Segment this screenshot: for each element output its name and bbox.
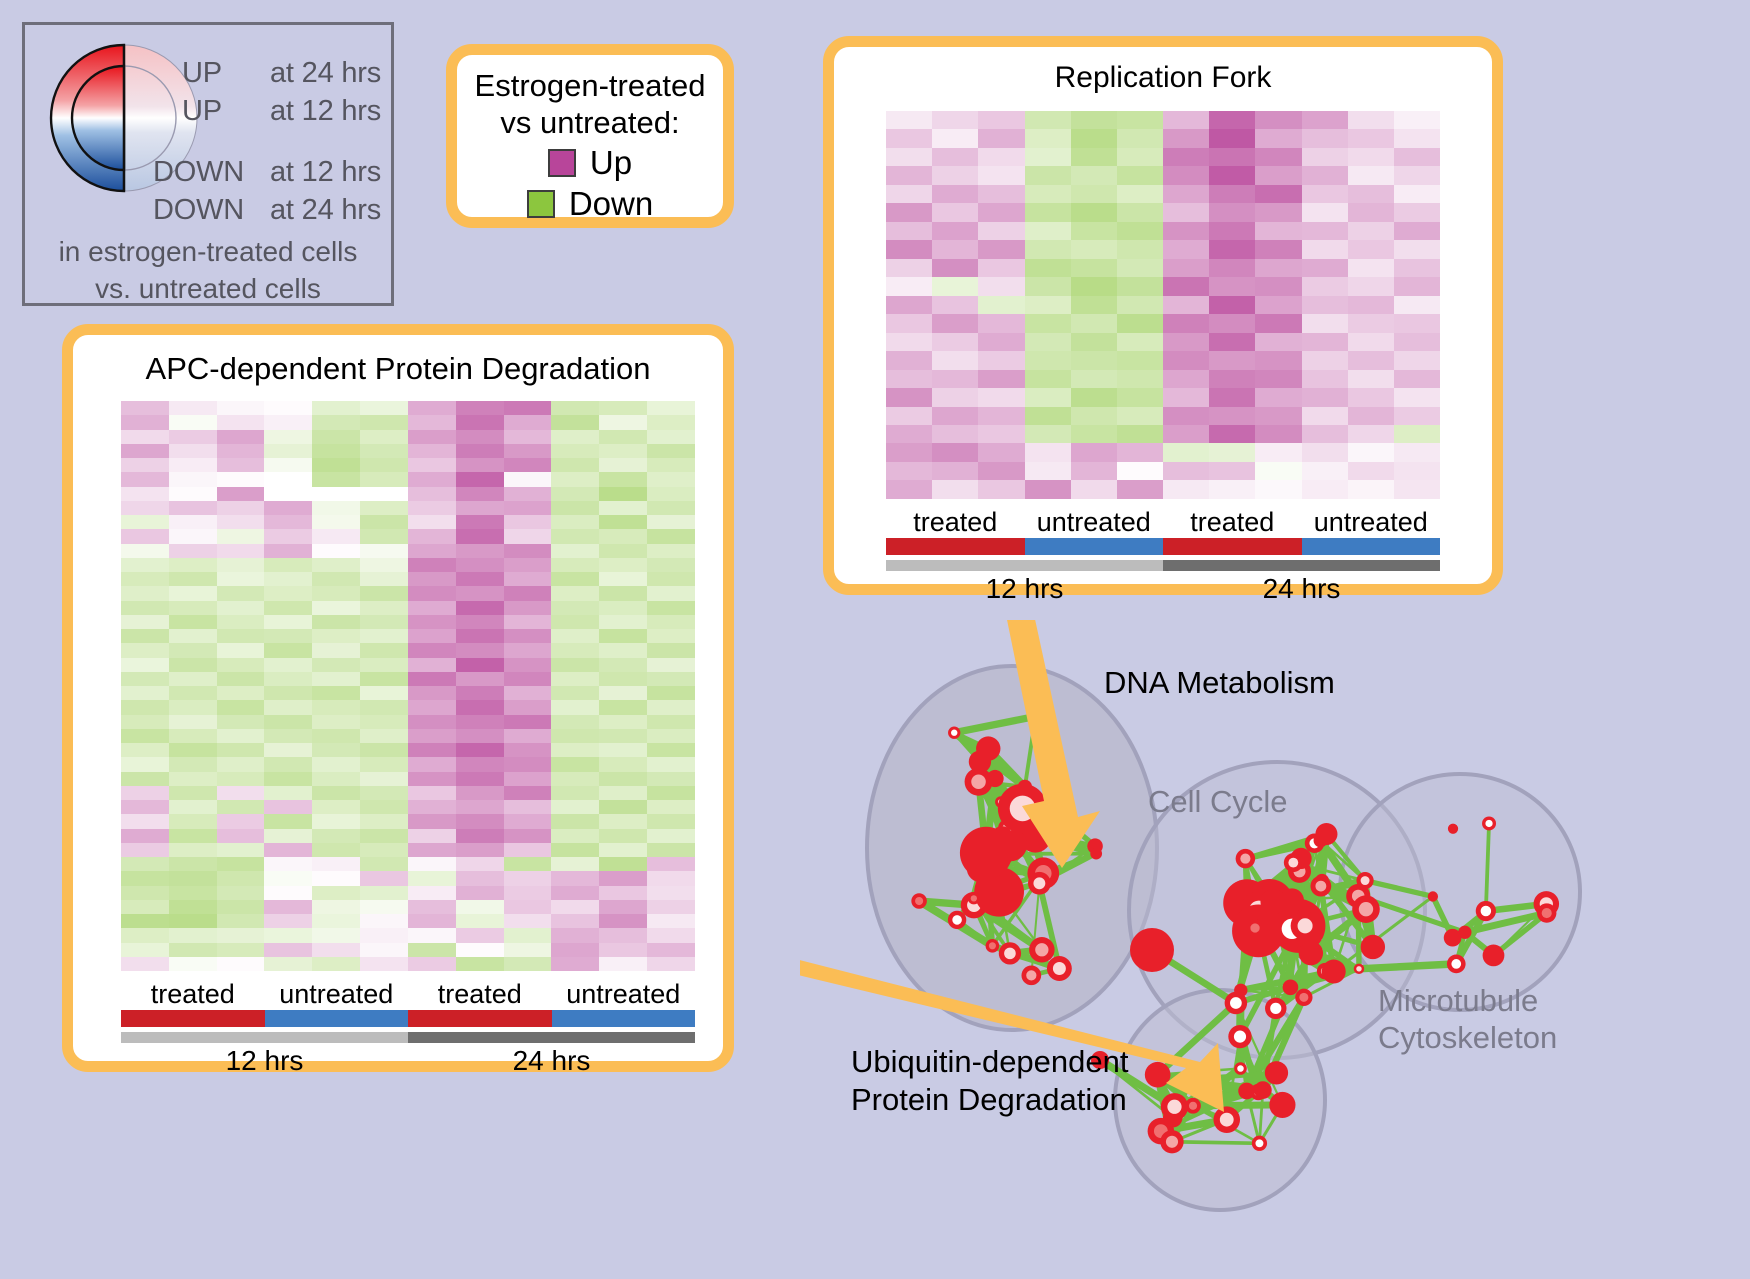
heatmap-cell [1071,407,1117,425]
heatmap-cell [408,501,456,515]
network-node-core [1356,966,1361,971]
heatmap-cell [599,430,647,444]
heatmap-row [121,415,695,429]
heatmap-cell [217,800,265,814]
heatmap-cell [647,658,695,672]
heatmap-cell [1025,333,1071,351]
heatmap-cell [1394,388,1440,406]
heatmap-cell [504,415,552,429]
heatmap-cell [456,886,504,900]
heatmap-cell [169,572,217,586]
heatmap-cell [264,501,312,515]
heatmap-cell [312,529,360,543]
heatmap-cell [264,786,312,800]
heatmap-cell [456,686,504,700]
heatmap-row [121,458,695,472]
heatmap-cell [360,544,408,558]
heatmap-cell [978,222,1024,240]
heatmap-cell [264,401,312,415]
heatmap-row [121,572,695,586]
heatmap-cell [1071,462,1117,480]
heatmap-row [886,370,1440,388]
heatmap-cell [169,444,217,458]
heatmap-cell [504,814,552,828]
heatmap-cell [408,572,456,586]
heatmap-cell [169,743,217,757]
heatmap-cell [1025,185,1071,203]
heatmap-cell [647,914,695,928]
heatmap-cell [504,629,552,643]
heatmap-cell [169,857,217,871]
heatmap-cell [1394,333,1440,351]
heatmap-cell [264,572,312,586]
heatmap-cell [647,928,695,942]
heatmap-cell [886,480,932,498]
heatmap-cell [169,800,217,814]
heatmap-cell [408,743,456,757]
heatmap-cell [456,472,504,486]
heatmap-cell [599,572,647,586]
heatmap-cell [1302,425,1348,443]
heatmap-cell [551,857,599,871]
heatmap-cell [647,629,695,643]
heatmap-cell [456,900,504,914]
heatmap-cell [1348,388,1394,406]
panel-apc-degradation: APC-dependent Protein Degradation treate… [62,324,734,1072]
heatmap-cell [1025,370,1071,388]
network-node-core [1299,993,1308,1002]
heatmap-cell [121,501,169,515]
heatmap-cell [264,658,312,672]
heatmap-cell [886,314,932,332]
heatmap-cell [504,800,552,814]
key-up-12-time: at 12 hrs [270,95,381,128]
heatmap-cell [647,601,695,615]
heatmap-cell [408,430,456,444]
heatmap-cell [1348,148,1394,166]
heatmap-cell [360,529,408,543]
heatmap-cell [932,129,978,147]
heatmap-cell [312,401,360,415]
heatmap-cell [551,487,599,501]
key-footer-line1: in estrogen-treated cells [25,236,391,268]
heatmap-cell [551,544,599,558]
heatmap-cell [360,572,408,586]
heatmap-cell [264,757,312,771]
heatmap-row [886,351,1440,369]
heatmap-row [121,871,695,885]
heatmap-cell [504,544,552,558]
heatmap-cell [312,487,360,501]
heatmap-cell [408,729,456,743]
heatmap-cell [169,957,217,971]
heatmap-cell [217,686,265,700]
heatmap-cell [360,843,408,857]
heatmap-cell [647,843,695,857]
network-node-core [1315,881,1326,892]
heatmap-cell [978,314,1024,332]
heatmap-cell [312,501,360,515]
heatmap-cell [217,487,265,501]
heatmap-cell [312,658,360,672]
heatmap-cell [504,729,552,743]
timepoint-label: 24 hrs [408,1045,695,1077]
heatmap-cell [121,415,169,429]
timepoint-bar-segment [121,1032,408,1043]
heatmap-cell [1071,111,1117,129]
heatmap-cell [1025,166,1071,184]
heatmap-cell [456,814,504,828]
heatmap-cell [360,857,408,871]
legend-up-label: Up [590,144,632,182]
heatmap-cell [504,458,552,472]
heatmap-apc [121,401,695,971]
heatmap-cell [312,857,360,871]
network-node [1254,1081,1272,1099]
heatmap-cell [264,558,312,572]
heatmap-cell [551,757,599,771]
heatmap-cell [1348,129,1394,147]
heatmap-cell [1255,425,1301,443]
heatmap-cell [217,928,265,942]
heatmap-cell [504,572,552,586]
heatmap-cell [456,857,504,871]
heatmap-cell [886,222,932,240]
heatmap-cell [312,814,360,828]
heatmap-cell [456,871,504,885]
network-node [1090,848,1102,860]
heatmap-cell [932,480,978,498]
heatmap-cell [1394,203,1440,221]
network-node-core [1298,918,1313,933]
heatmap-cell [1071,388,1117,406]
heatmap-cell [121,444,169,458]
down-color-swatch [527,190,555,218]
heatmap-cell [504,786,552,800]
heatmap-cell [1255,351,1301,369]
heatmap-cell [1163,222,1209,240]
heatmap-cell [169,772,217,786]
heatmap-cell [264,743,312,757]
heatmap-cell [1025,222,1071,240]
heatmap-cell [1163,407,1209,425]
heatmap-cell [932,443,978,461]
heatmap-cell [551,786,599,800]
heatmap-cell [1394,370,1440,388]
heatmap-cell [599,914,647,928]
treatment-bar-segment [552,1010,696,1027]
heatmap-cell [456,558,504,572]
heatmap-cell [121,729,169,743]
heatmap-cell [932,296,978,314]
heatmap-row [121,601,695,615]
heatmap-cell [360,729,408,743]
heatmap-cell [456,700,504,714]
network-node [976,736,1000,760]
heatmap-cell [504,558,552,572]
key-up-12-label: UP [182,95,222,128]
heatmap-cell [1163,111,1209,129]
heatmap-cell [647,943,695,957]
heatmap-cell [1348,351,1394,369]
heatmap-cell [1163,296,1209,314]
heatmap-cell [647,900,695,914]
heatmap-cell [551,629,599,643]
heatmap-cell [1025,462,1071,480]
heatmap-cell [978,462,1024,480]
heatmap-cell [169,629,217,643]
heatmap-cell [264,900,312,914]
heatmap-cell [551,572,599,586]
network-edge [1172,1142,1259,1144]
network-node-core [1250,923,1259,932]
heatmap-cell [1348,111,1394,129]
heatmap-cell [886,425,932,443]
heatmap-cell [169,814,217,828]
network-node-core [1542,908,1552,918]
heatmap-cell [599,957,647,971]
network-node-core [1451,959,1461,969]
heatmap-cell [360,643,408,657]
heatmap-cell [1071,240,1117,258]
heatmap-cell [169,472,217,486]
heatmap-cell [217,729,265,743]
heatmap-cell [1025,443,1071,461]
heatmap-cell [647,957,695,971]
heatmap-cell [217,757,265,771]
heatmap-cell [312,472,360,486]
group-label: treated [1163,507,1302,538]
heatmap-cell [551,814,599,828]
heatmap-cell [1209,185,1255,203]
heatmap-cell [599,814,647,828]
heatmap-cell [599,743,647,757]
heatmap-cell [1255,462,1301,480]
heatmap-cell [456,729,504,743]
heatmap-cell [456,772,504,786]
heatmap-row [121,529,695,543]
heatmap-cell [978,388,1024,406]
heatmap-cell [1209,443,1255,461]
heatmap-cell [647,586,695,600]
heatmap-cell [264,700,312,714]
heatmap-cell [360,900,408,914]
heatmap-cell [886,370,932,388]
heatmap-cell [121,957,169,971]
heatmap-cell [456,914,504,928]
heatmap-cell [121,786,169,800]
treatment-bar-segment [1025,538,1164,555]
heatmap-cell [360,658,408,672]
heatmap-cell [647,886,695,900]
group-label: treated [886,507,1025,538]
heatmap-cell [169,686,217,700]
heatmap-cell [551,743,599,757]
heatmap-cell [886,259,932,277]
heatmap-cell [551,686,599,700]
heatmap-cell [978,240,1024,258]
heatmap-cell [1348,333,1394,351]
key-up-24-label: UP [182,57,222,90]
heatmap-cell [504,700,552,714]
heatmap-cell [504,886,552,900]
heatmap-cell [1348,166,1394,184]
heatmap-cell [551,458,599,472]
heatmap-cell [551,772,599,786]
heatmap-cell [978,351,1024,369]
heatmap-cell [1209,333,1255,351]
heatmap-cell [360,629,408,643]
heatmap-cell [551,957,599,971]
network-node-core [1026,970,1036,980]
heatmap-cell [504,501,552,515]
heatmap-cell [408,957,456,971]
heatmap-cell [504,857,552,871]
key-down-24-label: DOWN [153,194,244,227]
heatmap-cell [408,900,456,914]
heatmap-cell [647,800,695,814]
heatmap-cell [1394,240,1440,258]
heatmap-cell [504,487,552,501]
cluster-label-ubiquitin-line1: Ubiquitin-dependent [851,1043,1129,1081]
heatmap-cell [504,943,552,957]
heatmap-cell [169,914,217,928]
group-label: untreated [1025,507,1164,538]
heatmap-cell [312,629,360,643]
heatmap-cell [312,871,360,885]
heatmap-cell [647,444,695,458]
heatmap-cell [599,700,647,714]
heatmap-cell [886,111,932,129]
heatmap-cell [551,715,599,729]
heatmap-cell [456,544,504,558]
heatmap-cell [599,415,647,429]
heatmap-cell [456,515,504,529]
heatmap-cell [312,515,360,529]
heatmap-cell [1394,185,1440,203]
cluster-label-cell-cycle: Cell Cycle [1148,784,1288,820]
heatmap-cell [169,700,217,714]
heatmap-cell [886,388,932,406]
heatmap-cell [647,401,695,415]
heatmap-cell [504,957,552,971]
heatmap-cell [217,615,265,629]
heatmap-cell [408,943,456,957]
heatmap-row [886,443,1440,461]
heatmap-cell [408,401,456,415]
heatmap-cell [1209,314,1255,332]
heatmap-row [886,203,1440,221]
heatmap-row [886,314,1440,332]
heatmap-cell [1255,443,1301,461]
heatmap-cell [551,672,599,686]
heatmap-cell [647,544,695,558]
heatmap-cell [647,786,695,800]
heatmap-cell [456,629,504,643]
heatmap-cell [504,601,552,615]
heatmap-cell [1163,185,1209,203]
heatmap-row [121,615,695,629]
network-edge [1359,964,1456,969]
heatmap-cell [312,957,360,971]
heatmap-cell [312,672,360,686]
treatment-bar-segment [265,1010,409,1027]
heatmap-cell [1394,351,1440,369]
heatmap-cell [932,222,978,240]
heatmap-cell [169,501,217,515]
heatmap-cell [360,928,408,942]
heatmap-cell [978,259,1024,277]
heatmap-cell [169,643,217,657]
heatmap-cell [647,672,695,686]
heatmap-cell [1117,166,1163,184]
heatmap-cell [264,444,312,458]
heatmap-cell [647,814,695,828]
heatmap-cell [1394,166,1440,184]
heatmap-cell [1117,462,1163,480]
heatmap-row [121,857,695,871]
heatmap-cell [1255,388,1301,406]
heatmap-row [886,166,1440,184]
network-node [1322,960,1346,984]
heatmap-cell [1071,480,1117,498]
heatmap-cell [264,800,312,814]
heatmap-cell [312,558,360,572]
timepoint-label: 12 hrs [886,573,1163,605]
heatmap-cell [647,743,695,757]
network-node [1283,979,1299,995]
heatmap-cell [504,871,552,885]
key-down-12-label: DOWN [153,156,244,189]
heatmap-cell [1117,370,1163,388]
heatmap-row [886,277,1440,295]
heatmap-cell [1255,111,1301,129]
heatmap-cell [551,615,599,629]
heatmap-cell [551,529,599,543]
heatmap-cell [217,515,265,529]
heatmap-cell [1071,166,1117,184]
heatmap-cell [1163,314,1209,332]
heatmap-row [121,658,695,672]
heatmap-cell [1025,314,1071,332]
heatmap-cell [551,401,599,415]
heatmap-cell [1071,129,1117,147]
heatmap-cell [504,586,552,600]
cluster-label-ubiquitin-degradation: Ubiquitin-dependent Protein Degradation [851,1043,1129,1119]
heatmap-cell [551,472,599,486]
heatmap-cell [647,430,695,444]
heatmap-cell [1117,314,1163,332]
heatmap-cell [1209,222,1255,240]
heatmap-cell [1117,351,1163,369]
heatmap-cell [360,871,408,885]
heatmap-cell [360,472,408,486]
heatmap-cell [264,928,312,942]
heatmap-cell [978,333,1024,351]
heatmap-cell [978,111,1024,129]
heatmap-row [121,743,695,757]
treatment-bar-segment [121,1010,265,1027]
heatmap-row [121,900,695,914]
timepoint-label: 12 hrs [121,1045,408,1077]
heatmap-cell [1394,407,1440,425]
heatmap-cell [312,886,360,900]
heatmap-cell [978,277,1024,295]
heatmap-cell [121,871,169,885]
network-node-core [971,895,977,901]
heatmap-cell [408,615,456,629]
heatmap-cell [1209,425,1255,443]
